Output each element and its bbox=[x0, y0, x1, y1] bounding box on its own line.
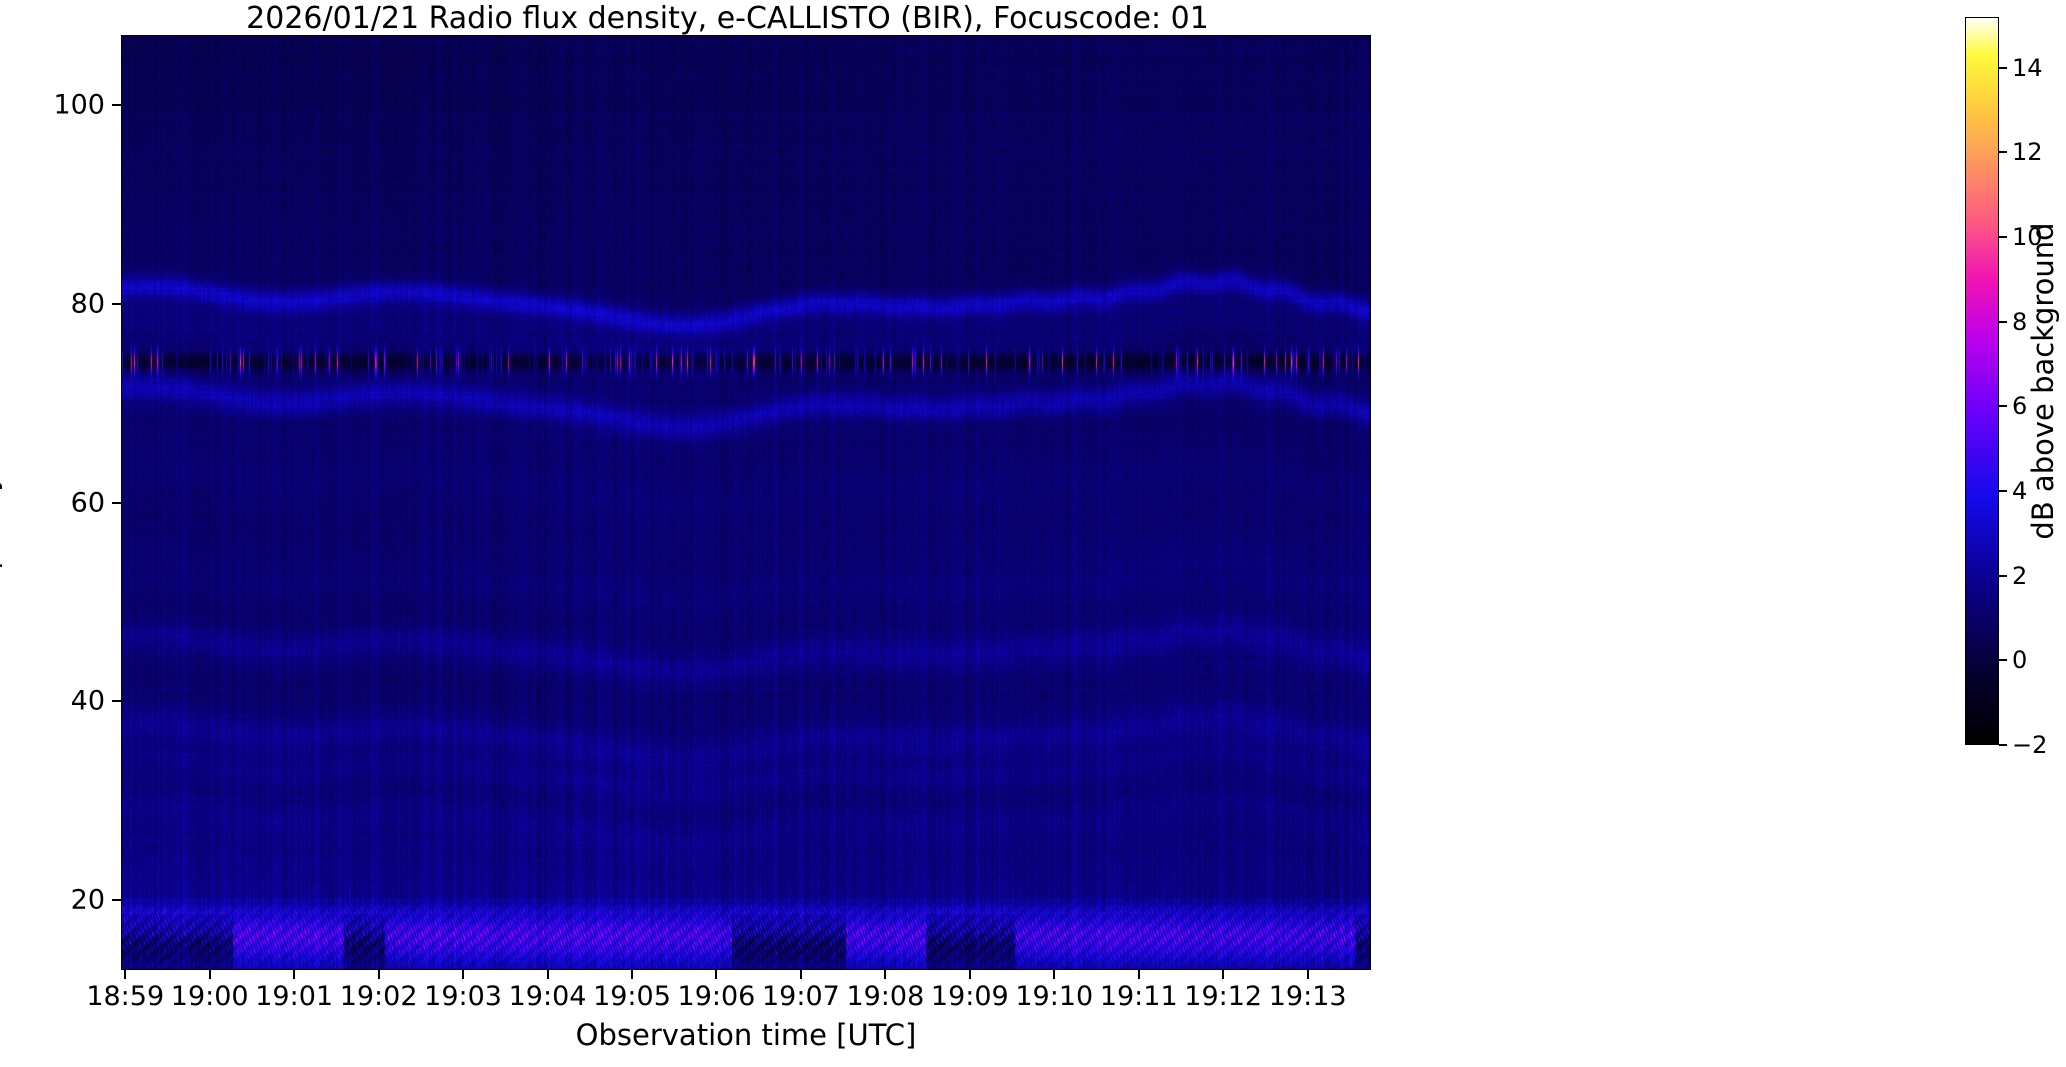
y-tick-label: 80 bbox=[0, 290, 105, 317]
colorbar-label: dB above background bbox=[2026, 222, 2060, 539]
y-tick-mark bbox=[112, 303, 121, 305]
colorbar-tick-label: 2 bbox=[2012, 564, 2027, 588]
colorbar bbox=[1965, 17, 1999, 745]
spectrogram-plot-area bbox=[121, 35, 1371, 970]
spectrogram-image bbox=[121, 35, 1371, 970]
x-tick-mark bbox=[631, 970, 633, 979]
x-tick-mark bbox=[462, 970, 464, 979]
x-tick-label: 19:04 bbox=[509, 983, 587, 1010]
colorbar-tick-mark bbox=[1999, 405, 2007, 407]
x-tick-label: 19:01 bbox=[255, 983, 333, 1010]
x-tick-mark bbox=[293, 970, 295, 979]
colorbar-tick-mark bbox=[1999, 659, 2007, 661]
x-tick-label: 19:03 bbox=[424, 983, 502, 1010]
x-tick-label: 19:09 bbox=[931, 983, 1009, 1010]
y-axis-label: Frequency [MHz] bbox=[0, 380, 3, 624]
x-tick-label: 18:59 bbox=[86, 983, 164, 1010]
colorbar-gradient bbox=[1966, 18, 1998, 744]
x-tick-mark bbox=[124, 970, 126, 979]
colorbar-tick-label: 8 bbox=[2012, 310, 2027, 334]
colorbar-tick-mark bbox=[1999, 236, 2007, 238]
x-tick-mark bbox=[1053, 970, 1055, 979]
x-tick-mark bbox=[800, 970, 802, 979]
x-tick-label: 19:05 bbox=[593, 983, 671, 1010]
colorbar-tick-mark bbox=[1999, 575, 2007, 577]
x-tick-mark bbox=[1138, 970, 1140, 979]
colorbar-tick-mark bbox=[1999, 321, 2007, 323]
x-tick-label: 19:10 bbox=[1015, 983, 1093, 1010]
x-tick-label: 19:11 bbox=[1100, 983, 1178, 1010]
x-tick-label: 19:06 bbox=[678, 983, 756, 1010]
x-tick-label: 19:07 bbox=[762, 983, 840, 1010]
colorbar-tick-label: −2 bbox=[2012, 733, 2047, 757]
colorbar-tick-mark bbox=[1999, 744, 2007, 746]
x-tick-mark bbox=[884, 970, 886, 979]
y-tick-mark bbox=[112, 700, 121, 702]
y-tick-label: 40 bbox=[0, 688, 105, 715]
x-tick-mark bbox=[969, 970, 971, 979]
x-tick-mark bbox=[1307, 970, 1309, 979]
x-axis-label: Observation time [UTC] bbox=[576, 1018, 917, 1052]
x-tick-label: 19:12 bbox=[1184, 983, 1262, 1010]
x-tick-mark bbox=[209, 970, 211, 979]
colorbar-tick-mark bbox=[1999, 490, 2007, 492]
x-tick-mark bbox=[378, 970, 380, 979]
y-tick-mark bbox=[112, 899, 121, 901]
x-tick-label: 19:02 bbox=[340, 983, 418, 1010]
x-tick-label: 19:08 bbox=[846, 983, 924, 1010]
colorbar-tick-label: 4 bbox=[2012, 479, 2027, 503]
colorbar-tick-label: 0 bbox=[2012, 648, 2027, 672]
y-tick-label: 60 bbox=[0, 489, 105, 516]
x-tick-mark bbox=[1222, 970, 1224, 979]
y-tick-label: 100 bbox=[0, 91, 105, 118]
colorbar-tick-label: 6 bbox=[2012, 394, 2027, 418]
x-tick-mark bbox=[715, 970, 717, 979]
x-tick-mark bbox=[547, 970, 549, 979]
spectrogram-figure: 2026/01/21 Radio flux density, e-CALLIST… bbox=[0, 0, 2066, 1067]
page-title: 2026/01/21 Radio flux density, e-CALLIST… bbox=[0, 2, 1455, 36]
x-tick-label: 19:00 bbox=[171, 983, 249, 1010]
colorbar-tick-label: 14 bbox=[2012, 56, 2043, 80]
y-tick-mark bbox=[112, 502, 121, 504]
colorbar-tick-label: 12 bbox=[2012, 140, 2043, 164]
y-tick-mark bbox=[112, 104, 121, 106]
colorbar-tick-mark bbox=[1999, 151, 2007, 153]
colorbar-tick-mark bbox=[1999, 67, 2007, 69]
y-tick-label: 20 bbox=[0, 887, 105, 914]
x-tick-label: 19:13 bbox=[1269, 983, 1347, 1010]
